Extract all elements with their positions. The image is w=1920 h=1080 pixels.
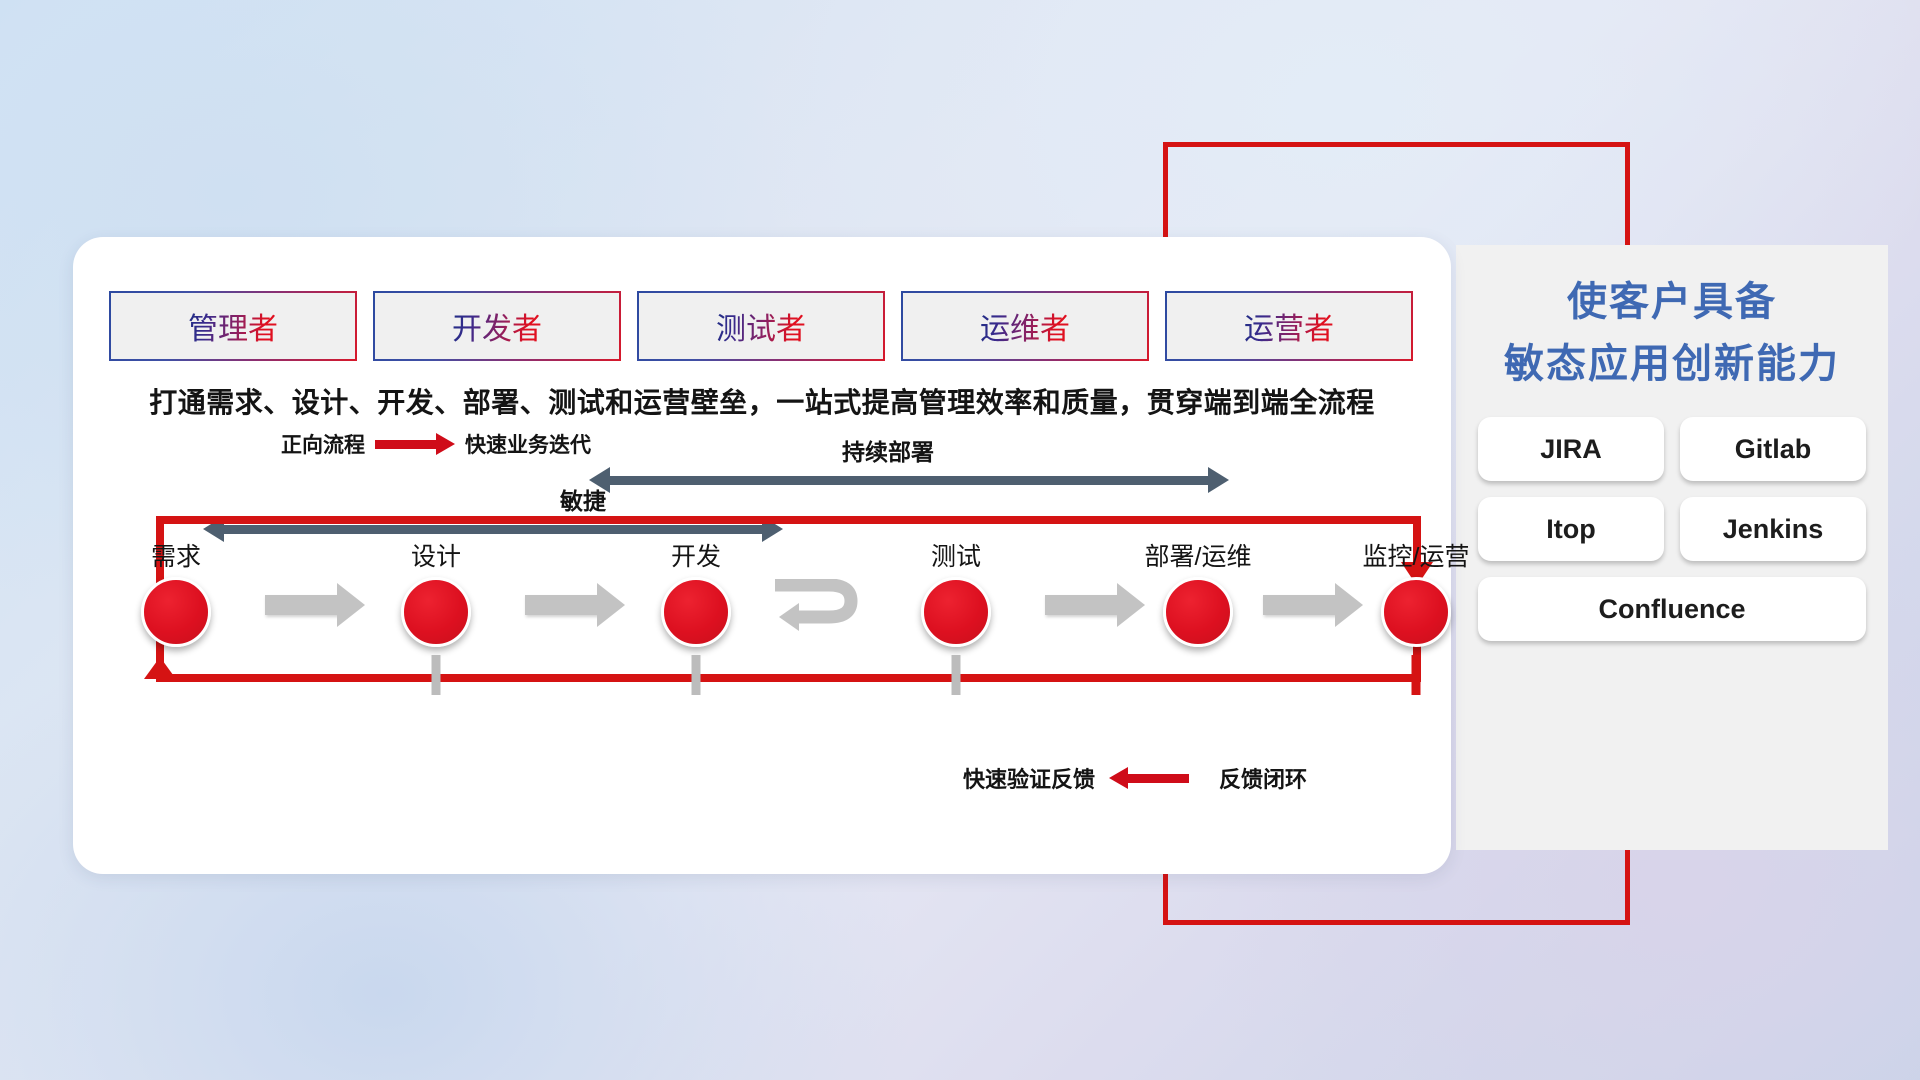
tool-chip-confluence[interactable]: Confluence	[1478, 577, 1866, 641]
pipeline-stage-row: 需求 设计 开发 测试	[73, 537, 1451, 667]
pipeline-loop-bottom	[156, 674, 1421, 682]
role-label: 管理者	[188, 304, 278, 348]
stage-label: 需求	[121, 537, 231, 573]
stage-node-development[interactable]: 开发	[641, 537, 751, 647]
stage-node-deploy-ops[interactable]: 部署/运维	[1103, 537, 1293, 647]
forward-flow-right-label: 快速业务迭代	[465, 429, 591, 459]
slide-canvas: 使客户具备 敏态应用创新能力 JIRA Gitlab Itop Jenkins …	[0, 0, 1920, 1080]
tool-chip-jira[interactable]: JIRA	[1478, 417, 1664, 481]
role-box-manager[interactable]: 管理者	[111, 293, 355, 359]
stage-node-design[interactable]: 设计	[381, 537, 491, 647]
headline-text: 打通需求、设计、开发、部署、测试和运营壁垒，一站式提高管理效率和质量，贯穿端到端…	[73, 381, 1451, 421]
stage-node-monitor-operations[interactable]: 监控/运营	[1321, 537, 1511, 647]
stage-label: 部署/运维	[1103, 537, 1293, 573]
role-box-row: 管理者 开发者 测试者 运维者 运营者	[111, 293, 1411, 359]
tool-chip-gitlab[interactable]: Gitlab	[1680, 417, 1866, 481]
pipeline-loop-top	[156, 516, 1421, 524]
span-label-continuous-deployment: 持续部署	[773, 433, 1003, 467]
arrow-right-icon	[375, 440, 437, 449]
arrow-left-icon	[1127, 774, 1189, 783]
stage-dot-icon	[141, 577, 211, 647]
role-label: 开发者	[452, 304, 542, 348]
role-box-developer[interactable]: 开发者	[375, 293, 619, 359]
panel-heading-line-1: 使客户具备	[1478, 271, 1866, 333]
devops-main-card: 管理者 开发者 测试者 运维者 运营者 打通需求、设计、开发、部署、测试和运营壁…	[73, 237, 1451, 874]
role-box-tester[interactable]: 测试者	[639, 293, 883, 359]
stage-dot-icon	[401, 577, 471, 647]
double-arrow-agile	[223, 525, 763, 534]
forward-flow-legend: 正向流程 快速业务迭代	[281, 429, 591, 459]
stage-label: 测试	[901, 537, 1011, 573]
role-box-ops[interactable]: 运维者	[903, 293, 1147, 359]
stage-dot-icon	[661, 577, 731, 647]
stage-stem-design	[432, 655, 441, 695]
role-box-operations[interactable]: 运营者	[1167, 293, 1411, 359]
capability-panel: 使客户具备 敏态应用创新能力 JIRA Gitlab Itop Jenkins …	[1456, 245, 1888, 850]
flow-arrow-icon-1	[265, 595, 339, 615]
stage-dot-icon	[1381, 577, 1451, 647]
role-label: 运营者	[1244, 304, 1334, 348]
role-label: 运维者	[980, 304, 1070, 348]
stage-dot-icon	[1163, 577, 1233, 647]
stage-label: 设计	[381, 537, 491, 573]
stage-label: 开发	[641, 537, 751, 573]
stage-stem-development	[692, 655, 701, 695]
stage-node-requirements[interactable]: 需求	[121, 537, 231, 647]
role-label: 测试者	[716, 304, 806, 348]
feedback-right-label: 反馈闭环	[1219, 762, 1307, 794]
stage-node-testing[interactable]: 测试	[901, 537, 1011, 647]
stage-stem-monitor	[1412, 655, 1421, 695]
stage-dot-icon	[921, 577, 991, 647]
panel-heading-line-2: 敏态应用创新能力	[1478, 333, 1866, 395]
stage-stem-testing	[952, 655, 961, 695]
loop-back-arrow-icon	[773, 579, 869, 641]
flow-arrow-icon-2	[525, 595, 599, 615]
span-label-agile: 敏捷	[493, 482, 673, 516]
double-arrow-continuous-deployment	[609, 476, 1209, 485]
tool-chip-grid: JIRA Gitlab Itop Jenkins Confluence	[1478, 417, 1866, 641]
tool-chip-jenkins[interactable]: Jenkins	[1680, 497, 1866, 561]
feedback-left-label: 快速验证反馈	[963, 762, 1095, 794]
forward-flow-left-label: 正向流程	[281, 429, 365, 459]
stage-label: 监控/运营	[1321, 537, 1511, 573]
feedback-loop-legend: 快速验证反馈 反馈闭环	[963, 762, 1307, 794]
